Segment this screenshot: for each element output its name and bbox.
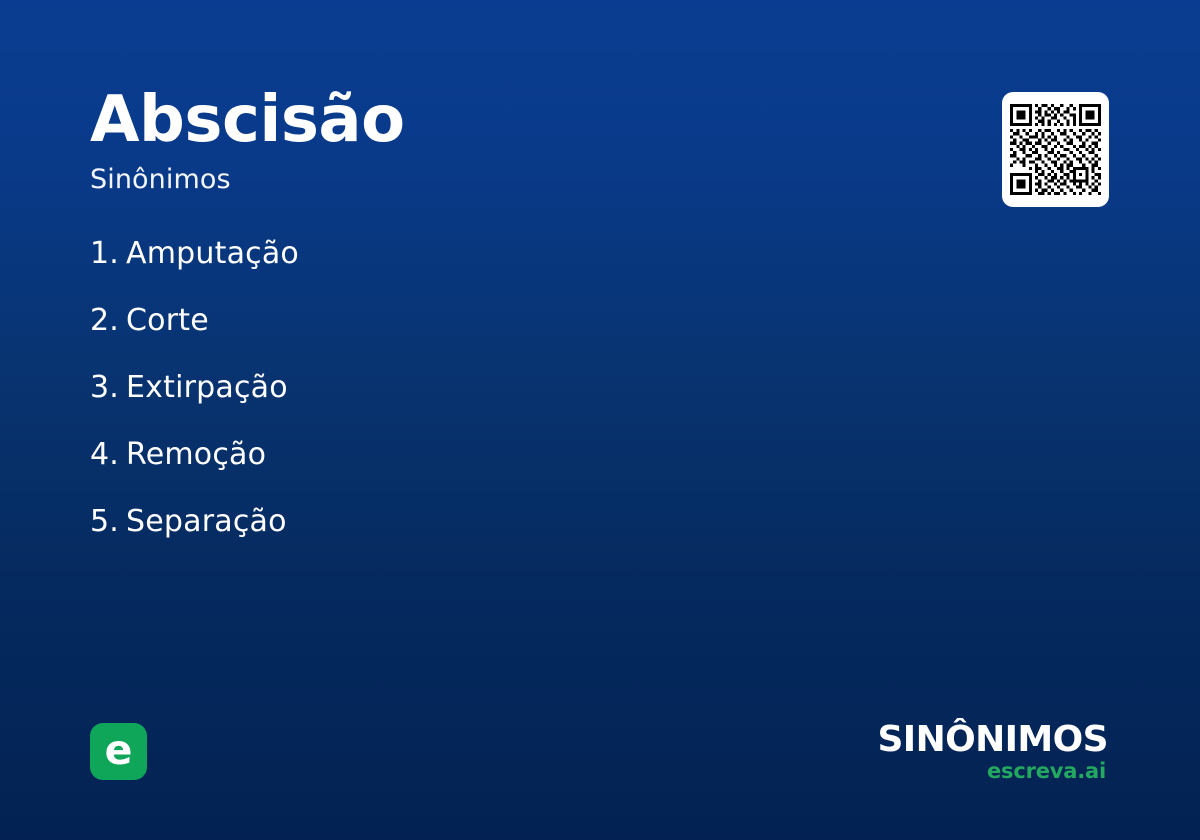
list-item: 2. Corte bbox=[90, 303, 910, 370]
list-item-term: Extirpação bbox=[126, 370, 288, 405]
list-item-term: Amputação bbox=[126, 236, 299, 271]
page-title: Abscisão bbox=[90, 88, 850, 153]
qr-code-frame[interactable] bbox=[1002, 92, 1109, 207]
list-item-index: 4. bbox=[90, 437, 126, 472]
badge-letter: e bbox=[105, 730, 133, 771]
escreva-badge-icon: e bbox=[90, 723, 147, 780]
list-item: 4. Remoção bbox=[90, 437, 910, 504]
list-item-index: 2. bbox=[90, 303, 126, 338]
list-item-index: 1. bbox=[90, 236, 126, 271]
qr-code-icon bbox=[1010, 104, 1101, 195]
section-label: Sinônimos bbox=[90, 165, 850, 195]
brand-logo: SINÔNIMOS escreva.ai bbox=[877, 722, 1108, 782]
list-item-term: Separação bbox=[126, 504, 287, 539]
list-item: 5. Separação bbox=[90, 504, 910, 571]
headline-block: Abscisão Sinônimos bbox=[90, 88, 850, 195]
list-item-term: Corte bbox=[126, 303, 209, 338]
synonym-card: Abscisão Sinônimos bbox=[0, 0, 1200, 840]
list-item-index: 5. bbox=[90, 504, 126, 539]
list-item: 1. Amputação bbox=[90, 236, 910, 303]
list-item: 3. Extirpação bbox=[90, 370, 910, 437]
list-item-term: Remoção bbox=[126, 437, 266, 472]
logo-secondary-text: escreva.ai bbox=[877, 761, 1106, 782]
list-item-index: 3. bbox=[90, 370, 126, 405]
synonym-list: 1. Amputação 2. Corte 3. Extirpação 4. R… bbox=[90, 236, 910, 571]
logo-primary-text: SINÔNIMOS bbox=[877, 722, 1108, 758]
